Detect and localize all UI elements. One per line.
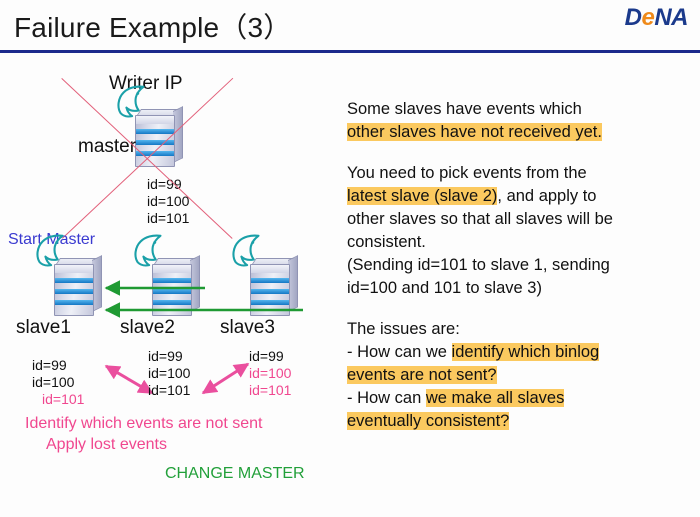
slave2-server-icon [148,254,202,316]
server-stripe [153,300,191,305]
slide-root: Failure Example（3） DeNA Writer IP master… [0,0,700,517]
paragraph-3: The issues are: - How can we identify wh… [347,318,697,433]
arrow-slave2-slave3-sync [203,364,248,393]
text-run: - How can we [347,343,452,361]
server-stripe [136,129,174,134]
text-run-highlighted: eventually consistent? [347,412,509,430]
logo-letter-d: D [625,4,642,31]
logo-letter-e: e [641,4,654,31]
master-server-icon [131,105,185,167]
slave1-label: slave1 [16,317,71,339]
text-run: - How can [347,389,426,407]
text-line: other slaves so that all slaves will be [347,208,697,231]
slave2-id-list: id=99 id=100 id=101 [148,348,190,399]
text-line: id=100 and 101 to slave 3) [347,277,697,300]
text-line: events are not sent? [347,364,697,387]
server-stripe [153,289,191,294]
slave2-id-2: id=101 [148,382,190,399]
paragraph-2: You need to pick events from the latest … [347,162,697,300]
change-master-note: CHANGE MASTER [165,465,305,483]
text-run-highlighted: we make all slaves [426,389,564,407]
server-stripe [251,289,289,294]
slave3-server-icon [246,254,300,316]
explanation-text-column: Some slaves have events which other slav… [347,98,697,451]
server-stripe [55,278,93,283]
text-line: The issues are: [347,318,697,341]
text-run: The issues are: [347,320,460,338]
server-front-face [54,264,94,316]
apply-lost-events-note: Apply lost events [46,436,167,454]
text-line: consistent. [347,231,697,254]
text-run: consistent. [347,233,426,251]
dena-logo: DeNA [625,4,688,32]
text-run: (Sending id=101 to slave 1, sending [347,256,610,274]
slave1-server-icon [50,254,104,316]
slave1-id-2: id=101 [32,391,84,408]
text-line: Some slaves have events which [347,98,697,121]
text-run: id=100 and 101 to slave 3) [347,279,542,297]
text-run-highlighted: latest slave (slave 2) [347,187,497,205]
server-stripe [136,140,174,145]
server-stripe [55,300,93,305]
paragraph-1: Some slaves have events which other slav… [347,98,697,144]
text-run-highlighted: events are not sent? [347,366,497,384]
text-line: - How can we make all slaves [347,387,697,410]
master-id-list: id=99 id=100 id=101 [147,176,189,227]
text-run-highlighted: identify which binlog [452,343,600,361]
text-run: You need to pick events from the [347,164,587,182]
server-front-face [250,264,290,316]
text-line: latest slave (slave 2), and apply to [347,185,697,208]
text-line: eventually consistent? [347,410,697,433]
master-id-2: id=101 [147,210,189,227]
text-line: - How can we identify which binlog [347,341,697,364]
text-run: other slaves so that all slaves will be [347,210,613,228]
page-title: Failure Example（3） [14,6,291,46]
slave1-id-list: id=99 id=100 id=101 [32,357,84,408]
slave3-id-0: id=99 [249,348,291,365]
server-stripe [251,300,289,305]
slave1-id-0: id=99 [32,357,84,374]
text-line: other slaves have not received yet. [347,121,697,144]
slave2-id-1: id=100 [148,365,190,382]
text-run-highlighted: other slaves have not received yet. [347,123,602,141]
slave2-label: slave2 [120,317,175,339]
server-front-face [135,115,175,167]
slave2-id-0: id=99 [148,348,190,365]
master-id-1: id=100 [147,193,189,210]
identify-events-note: Identify which events are not sent [25,415,262,433]
slave3-id-1: id=100 [249,365,291,382]
server-front-face [152,264,192,316]
server-stripe [251,278,289,283]
server-stripe [153,278,191,283]
server-stripe [55,289,93,294]
slave3-label: slave3 [220,317,275,339]
text-line: You need to pick events from the [347,162,697,185]
slave3-id-list: id=99 id=100 id=101 [249,348,291,399]
logo-letter-na: NA [654,4,688,31]
slave3-id-2: id=101 [249,382,291,399]
arrow-slave1-slave2-sync [106,366,152,393]
slave1-id-1: id=100 [32,374,84,391]
header-divider [0,50,700,53]
text-run: Some slaves have events which [347,100,582,118]
text-run: , and apply to [497,187,596,205]
text-line: (Sending id=101 to slave 1, sending [347,254,697,277]
